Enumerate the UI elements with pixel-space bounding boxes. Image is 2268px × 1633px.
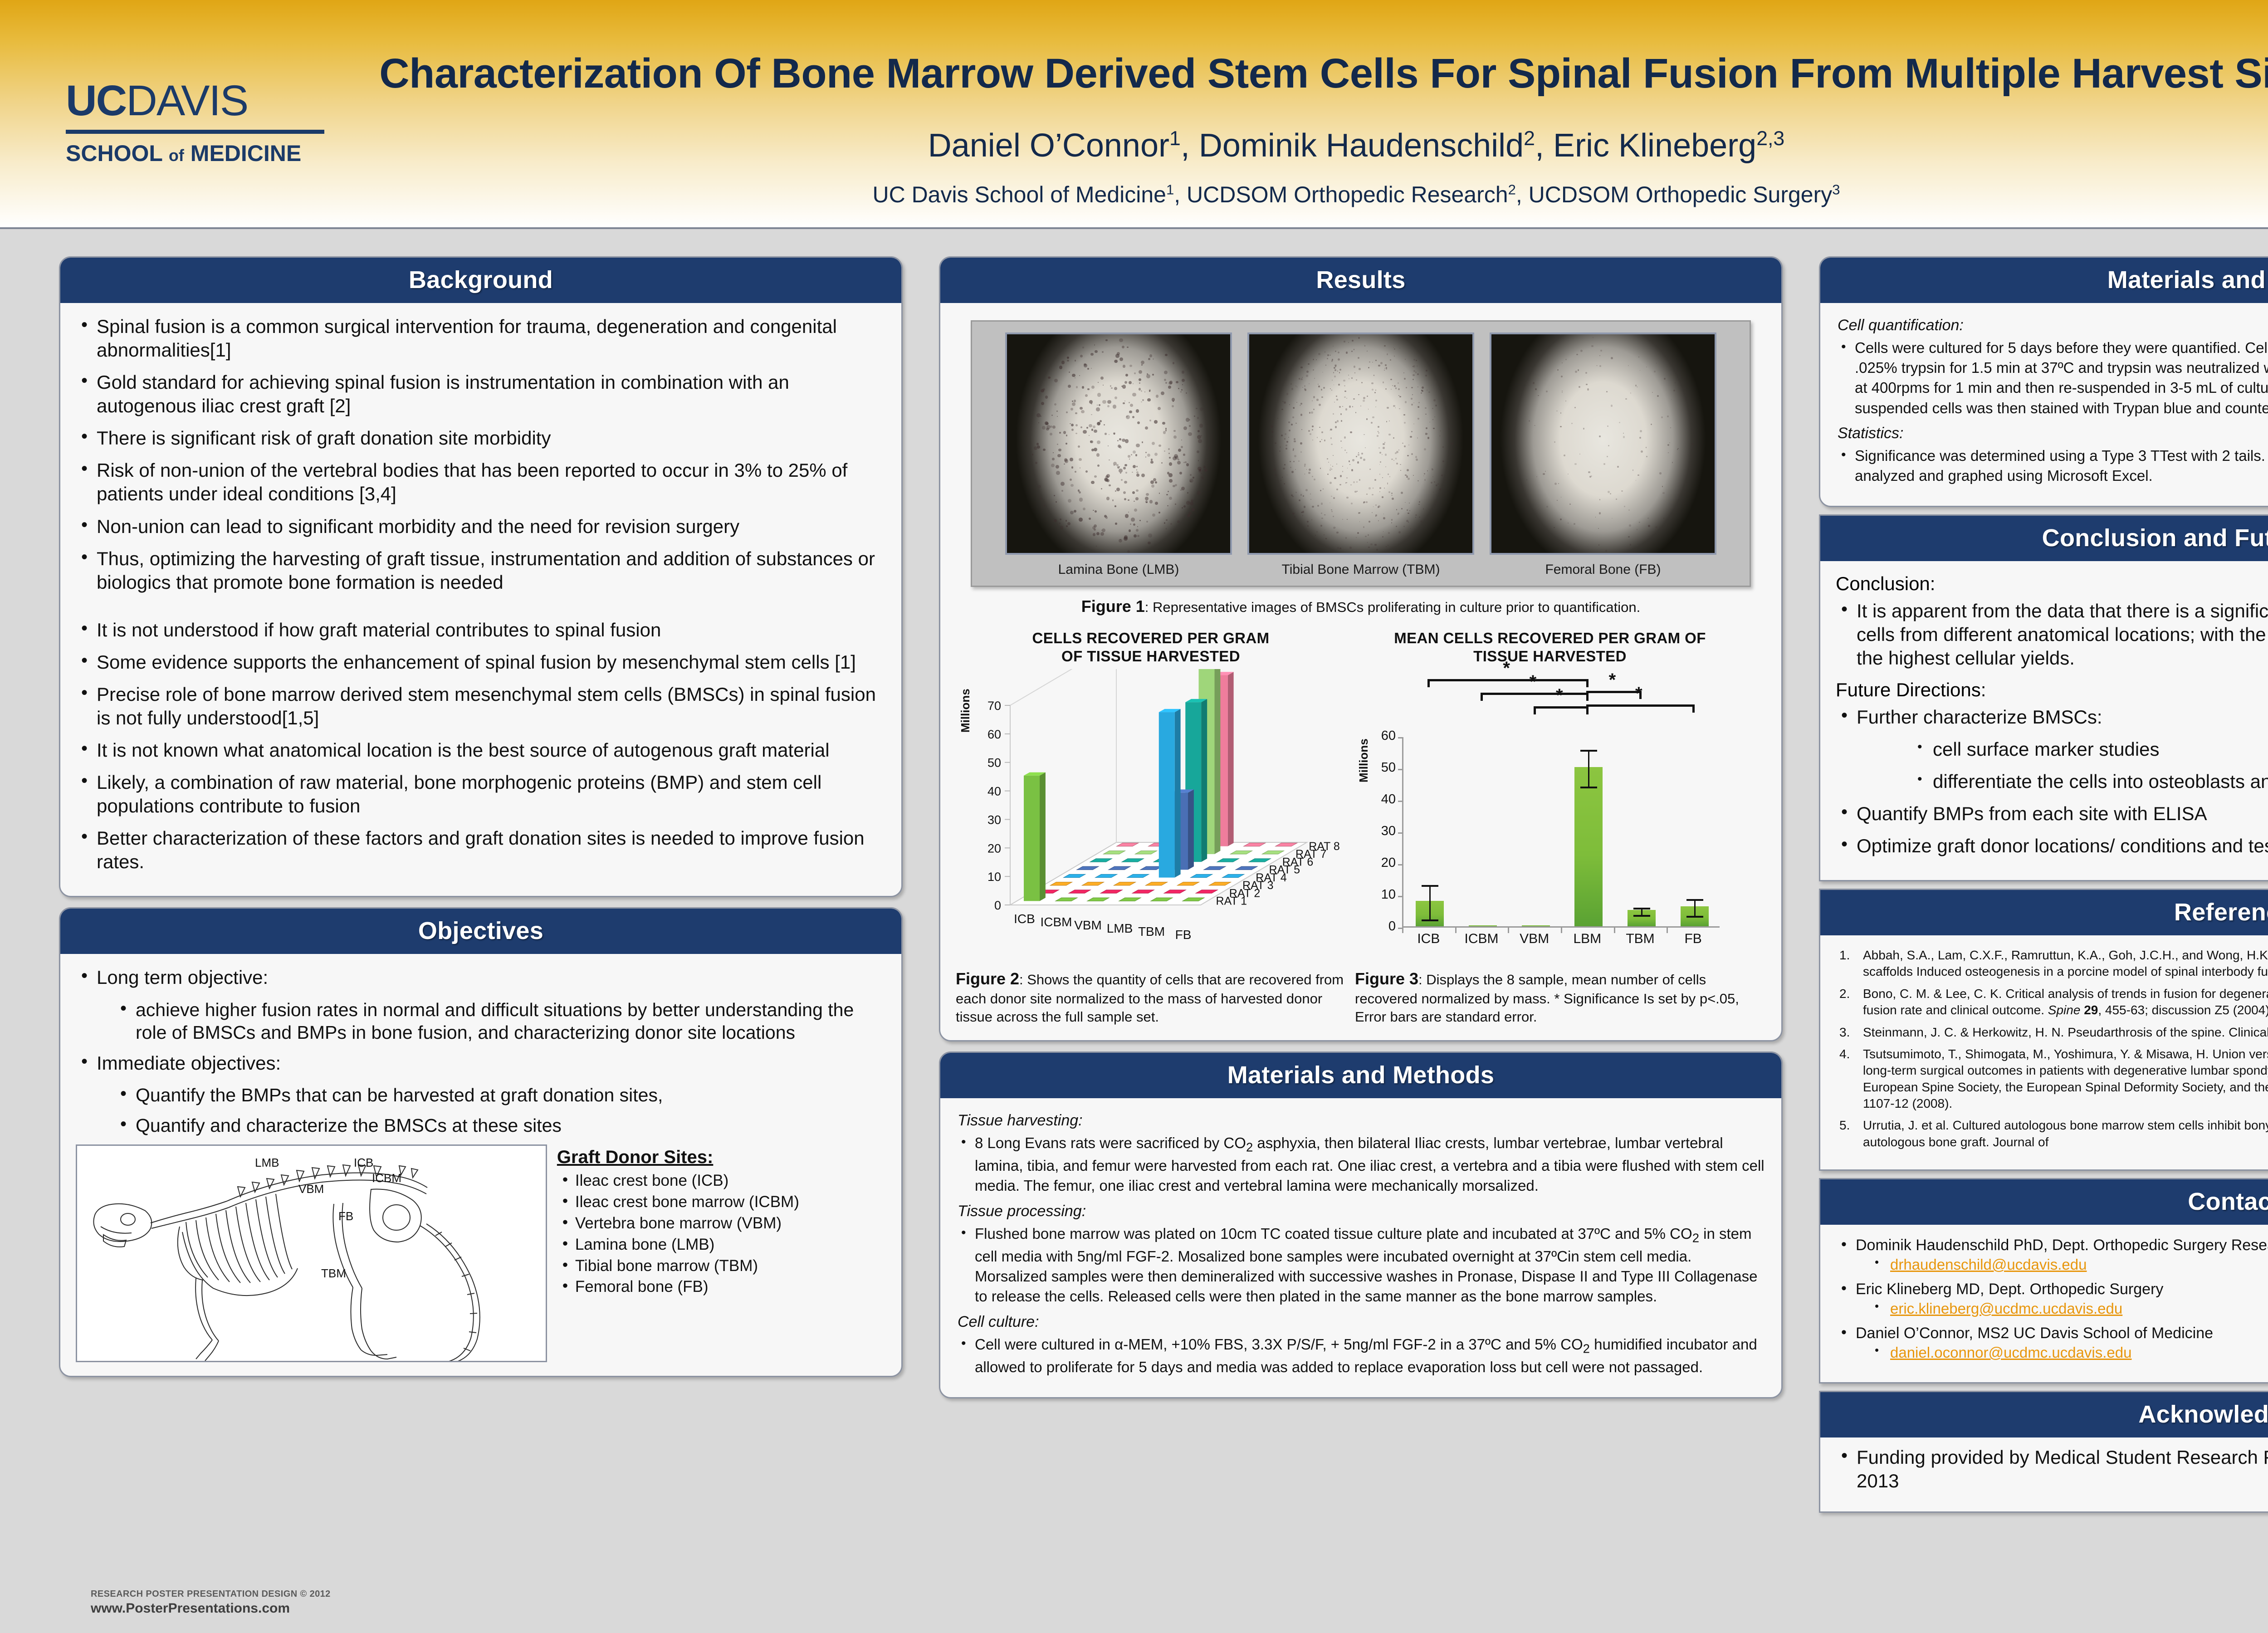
figure3-x-tick: ICB <box>1401 931 1456 947</box>
micrograph-cell-speck <box>1379 487 1381 489</box>
micrograph-cell-speck <box>1183 462 1185 463</box>
micrograph-cell-speck <box>1647 518 1649 519</box>
micrograph-cell-speck <box>1331 360 1333 362</box>
micrograph-cell-speck <box>1284 464 1286 465</box>
micrograph-cell-speck <box>1129 459 1130 460</box>
micrograph-cell-speck <box>1558 483 1559 484</box>
figure3-plot <box>1402 737 1720 928</box>
micrograph-cell-speck <box>1336 489 1338 490</box>
micrograph-cell-speck <box>1286 448 1287 450</box>
micrograph-cell-speck <box>1339 369 1341 371</box>
figure3-title-line2: TISSUE HARVESTED <box>1355 647 1745 665</box>
micrograph-cell-speck <box>1066 435 1068 436</box>
micrograph-cell-speck <box>1415 372 1417 373</box>
micrograph-cell-speck <box>1061 482 1065 486</box>
micrograph-cell-speck <box>1274 469 1276 471</box>
micrograph-cell-speck <box>1578 369 1579 371</box>
list-item: Cell were cultured in α-MEM, +10% FBS, 3… <box>956 1335 1766 1378</box>
objectives-heading: Objectives <box>60 909 901 954</box>
micrograph-cell-speck <box>1375 390 1376 391</box>
micrograph-cell-speck <box>1579 386 1581 388</box>
micrograph-cell-speck <box>1132 393 1136 397</box>
micrograph-cell-speck <box>1569 504 1571 505</box>
micrograph-cell-speck <box>1054 403 1056 406</box>
contact-email-link[interactable]: drhaudenschild@ucdavis.edu <box>1890 1256 2087 1273</box>
micrograph-cell-speck <box>1037 445 1040 449</box>
micrograph-cell-speck <box>1411 404 1413 406</box>
figure3-error-cap-upper <box>1580 750 1597 752</box>
figure3-x-tick: ICBM <box>1454 931 1509 947</box>
micrograph-cell-speck <box>1187 492 1188 494</box>
contact-person: Eric Klineberg MD, Dept. Orthopedic Surg… <box>1836 1281 2268 1298</box>
micrograph-cell-speck <box>1416 459 1418 461</box>
figure2-y-tick: 20 <box>987 842 1001 856</box>
micrograph-cell-speck <box>1128 512 1129 513</box>
micrograph-cell-speck <box>1603 463 1606 465</box>
list-item: Significance was determined using a Type… <box>1836 446 2268 486</box>
micrograph-cell-speck <box>1164 379 1166 381</box>
micrograph-cell-speck <box>1394 385 1396 387</box>
micrograph-cell-speck <box>1585 372 1587 374</box>
micrograph-cell-speck <box>1186 463 1189 466</box>
micrograph-cell-speck <box>1091 368 1092 369</box>
micrograph-cell-speck <box>1281 480 1281 481</box>
acknowledgment-heading: Acknowledgment <box>1820 1392 2268 1437</box>
micrograph-cell-speck <box>1386 546 1387 547</box>
micrograph-cell-speck <box>1405 359 1406 360</box>
micrograph-cell-speck <box>1070 423 1070 424</box>
micrograph-cell-speck <box>1369 469 1371 470</box>
micrograph-cell-speck <box>1139 378 1141 381</box>
micrograph-cell-speck <box>1374 479 1376 481</box>
figure2-x-tick: ICBM <box>1041 915 1072 929</box>
micrograph-cell-speck <box>1334 369 1337 372</box>
micrograph-cell-speck <box>1543 473 1545 475</box>
micrograph-cell-speck <box>1067 357 1069 359</box>
micrograph-cell-speck <box>1323 489 1324 489</box>
micrograph-cell-speck <box>1051 464 1055 467</box>
micrograph-cell-speck <box>1076 386 1078 388</box>
micrograph-cell-speck <box>1588 471 1590 473</box>
micrograph-cell-speck <box>1177 461 1181 464</box>
list-item: Cells were cultured for 5 days before th… <box>1836 338 2268 418</box>
figure3-significance-bracket <box>1535 706 1588 709</box>
micrograph-cell-speck <box>1405 401 1407 403</box>
micrograph-cell-speck <box>1568 523 1569 523</box>
micrograph-cell-speck <box>1131 518 1135 522</box>
micrograph-cell-speck <box>1302 511 1304 513</box>
micrograph-cell-speck <box>1322 372 1323 373</box>
micrograph-cell-speck <box>1122 385 1126 389</box>
micrograph-cell-speck <box>1302 377 1303 378</box>
micrograph-cell-speck <box>1562 391 1563 391</box>
micrograph-cell-speck <box>1353 398 1354 400</box>
micrograph-cell-speck <box>1405 502 1406 503</box>
micrograph-cell-speck <box>1419 517 1420 518</box>
micrograph-cell-speck <box>1344 436 1346 438</box>
micrograph-cell-speck <box>1097 464 1100 467</box>
list-item: Spinal fusion is a common surgical inter… <box>76 315 886 362</box>
list-item: It is not understood if how graft materi… <box>76 618 886 642</box>
micrograph-cell-speck <box>1408 522 1409 523</box>
micrograph-cell-speck <box>1418 402 1420 403</box>
contact-email-link[interactable]: eric.klineberg@ucdmc.ucdavis.edu <box>1890 1300 2122 1317</box>
micrograph-cell-speck <box>1097 440 1100 444</box>
micrograph-cell-speck <box>1321 389 1323 391</box>
micrograph-cell-speck <box>1275 474 1277 476</box>
micrograph-cell-speck <box>1677 448 1679 450</box>
micrograph-cell-speck <box>1164 522 1166 524</box>
micrograph-cell-speck <box>1325 514 1326 515</box>
micrograph-caption-lmb: Lamina Bone (LMB) <box>1005 555 1232 580</box>
figure3-bracket-leg <box>1586 704 1589 713</box>
micrograph-cell-speck <box>1383 447 1385 449</box>
micrograph-cell-speck <box>1349 547 1351 548</box>
micrograph-cell-speck <box>1098 382 1099 383</box>
micrograph-cell-speck <box>1302 387 1303 388</box>
micrograph-cell-speck <box>1363 459 1365 461</box>
results-card: Results Lamina Bone (LMB) Tibial Bone Ma… <box>939 256 1783 1041</box>
micrograph-cell-speck <box>1448 429 1450 430</box>
micrograph-cell-speck <box>1331 390 1332 391</box>
figure3-bracket-leg <box>1427 679 1430 687</box>
micrograph-cell-speck <box>1320 525 1322 527</box>
micrograph-cell-speck <box>1324 440 1325 441</box>
micrograph-cell-speck <box>1071 466 1074 469</box>
micrograph-cell-speck <box>1112 499 1114 501</box>
micrograph-cell-speck <box>1354 349 1355 350</box>
micrograph-cell-speck <box>1085 470 1088 473</box>
micrograph-cell-speck <box>1434 416 1435 417</box>
micrograph-cell-speck <box>1198 430 1200 432</box>
micrograph-cell-speck <box>1117 440 1119 441</box>
micrograph-cell-speck <box>1102 400 1106 404</box>
list-item: Optimize graft donor locations/ conditio… <box>1836 834 2268 858</box>
micrograph-cell-speck <box>1324 534 1325 535</box>
objectives-immediate-label: Immediate objectives: <box>76 1051 886 1075</box>
micrograph-cell-speck <box>1372 512 1373 513</box>
micrograph-cell-speck <box>1173 401 1174 402</box>
micrograph-cell-speck <box>1554 527 1554 528</box>
rat-label-tbm: TBM <box>321 1266 346 1281</box>
micrograph-cell-speck <box>1096 546 1097 547</box>
micrograph-cell-speck <box>1075 433 1077 435</box>
micrograph-cell-speck <box>1127 550 1130 553</box>
micrograph-cell-speck <box>1336 464 1337 464</box>
micrograph-cell-speck <box>1295 423 1297 424</box>
micrograph-cell-speck <box>1367 542 1368 543</box>
micrograph-cell-speck <box>1312 476 1313 477</box>
micrograph-cell-speck <box>1554 483 1557 485</box>
micrograph-cell-speck <box>1411 387 1413 388</box>
micrograph-cell-speck <box>1072 374 1075 377</box>
micrograph-cell-speck <box>1041 402 1044 405</box>
micrograph-cell-speck <box>1339 484 1341 486</box>
micrograph-cell-speck <box>1277 418 1278 419</box>
micrograph-cell-speck <box>1133 383 1134 384</box>
micrograph-cell-speck <box>1282 477 1283 478</box>
micrograph-cell-speck <box>1365 447 1366 448</box>
micrograph-cell-speck <box>1611 357 1613 359</box>
micrograph-cell-speck <box>1451 443 1453 445</box>
objectives-long-term: Long term objective: <box>76 966 886 989</box>
micrograph-cell-speck <box>1421 392 1422 394</box>
micrograph-cell-speck <box>1591 345 1593 347</box>
micrograph-cell-speck <box>1533 382 1535 384</box>
micrograph-cell-speck <box>1321 503 1323 504</box>
figure3-significance-bracket <box>1481 693 1587 695</box>
micrograph-cell-speck <box>1407 469 1409 471</box>
micrograph-cell-speck <box>1129 402 1130 403</box>
micrograph-cell-speck <box>1145 426 1148 430</box>
micrograph-cell-speck <box>1097 405 1098 406</box>
micrograph-cell-speck <box>1424 473 1425 474</box>
micrograph-cell-speck <box>1294 438 1295 440</box>
micrograph-cell-speck <box>1413 365 1415 367</box>
micrograph-cell-speck <box>1087 368 1089 370</box>
rat-label-vbm: VBM <box>298 1182 324 1196</box>
figure3-x-tickmark <box>1455 928 1457 933</box>
micrograph-cell-speck <box>1388 532 1390 534</box>
micrograph-cell-speck <box>1646 456 1647 457</box>
logo-divider <box>66 130 324 134</box>
micrograph-cell-speck <box>1291 424 1293 425</box>
micrograph-cell-speck <box>1610 493 1611 494</box>
micrograph-cell-speck <box>1061 490 1063 492</box>
micrograph-cell-speck <box>1283 468 1285 470</box>
micrograph-cell-speck <box>1664 378 1666 380</box>
micrograph-cell-speck <box>1340 440 1342 442</box>
micrograph-cell-speck <box>1398 531 1401 533</box>
micrograph-cell-speck <box>1035 462 1037 464</box>
micrograph-cell-speck <box>1089 518 1091 520</box>
micrograph-cell-speck <box>1198 439 1202 443</box>
micrograph-cell-speck <box>1351 469 1353 471</box>
micrograph-cell-speck <box>1166 519 1167 521</box>
micrograph-cell-speck <box>1625 398 1627 400</box>
micrograph-cell-speck <box>1354 372 1355 373</box>
micrograph-cell-speck <box>1413 359 1416 361</box>
micrograph-cell-speck <box>1425 407 1426 409</box>
micrograph-cell-speck <box>1629 524 1631 527</box>
methods-section-label: Cell culture: <box>958 1313 1766 1331</box>
micrograph-cell-speck <box>1565 359 1567 360</box>
micrograph-cell-speck <box>1330 430 1330 431</box>
micrograph-cell-speck <box>1321 513 1322 514</box>
micrograph-cell-speck <box>1149 500 1153 503</box>
micrograph-cell-speck <box>1382 477 1383 478</box>
figure2-x-tick: VBM <box>1074 918 1102 932</box>
micrograph-cell-speck <box>1079 458 1082 461</box>
micrograph-cell-speck <box>1130 404 1133 407</box>
micrograph-cell-speck <box>1400 470 1401 471</box>
micrograph-cell-speck <box>1344 391 1346 392</box>
micrograph-cell-speck <box>1074 510 1076 513</box>
micrograph-cell-speck <box>1535 388 1537 391</box>
figure2-y-tick: 0 <box>994 899 1001 912</box>
micrograph-cell-speck <box>1141 474 1145 477</box>
list-item: Vertebra bone marrow (VBM) <box>557 1213 886 1234</box>
micrograph-cell-speck <box>1409 510 1411 512</box>
micrograph-cell-speck <box>1546 506 1548 508</box>
micrograph-cell-speck <box>1050 433 1052 435</box>
micrograph-cell-speck <box>1325 538 1327 540</box>
methods-section-list: Cells were cultured for 5 days before th… <box>1836 338 2268 418</box>
micrograph-cell-speck <box>1181 487 1185 490</box>
micrograph-cell-speck <box>1378 520 1379 521</box>
micrograph-cell-speck <box>1042 388 1045 391</box>
logo-school-text: SCHOOL <box>66 141 162 166</box>
micrograph-cell-speck <box>1413 374 1414 376</box>
micrograph-cell-speck <box>1363 397 1365 399</box>
micrograph-cell-speck <box>1181 389 1183 391</box>
micrograph-cell-speck <box>1374 392 1376 393</box>
micrograph-cell-speck <box>1351 351 1353 352</box>
micrograph-cell-speck <box>1304 388 1305 390</box>
methods-mid-body: Tissue harvesting:8 Long Evans rats were… <box>940 1098 1781 1398</box>
reference-item: Steinmann, J. C. & Herkowitz, H. N. Pseu… <box>1836 1024 2268 1041</box>
figure3-significance-star: * <box>1530 672 1537 692</box>
figure3-x-tickmark <box>1402 928 1403 933</box>
micrograph-cell-speck <box>1123 491 1126 494</box>
micrograph-cell-speck <box>1124 401 1125 401</box>
micrograph-cell-speck <box>1388 474 1389 475</box>
micrograph-cell-speck <box>1379 474 1381 475</box>
micrograph-cell-speck <box>1121 479 1123 481</box>
micrograph-cell-speck <box>1340 475 1342 477</box>
micrograph-cell-speck <box>1128 455 1130 458</box>
micrograph-cell-speck <box>1412 394 1413 395</box>
micrograph-cell-speck <box>1096 453 1100 457</box>
figure2-bar-side <box>1215 669 1221 854</box>
micrograph-cell-speck <box>1669 442 1670 443</box>
micrograph-cell-speck <box>1046 422 1048 425</box>
background-bullet-list-2: It is not understood if how graft materi… <box>76 618 886 874</box>
micrograph-cell-speck <box>1562 392 1563 393</box>
micrograph-cell-speck <box>1560 426 1561 427</box>
micrograph-cell-speck <box>1374 544 1376 546</box>
list-item: Funding provided by Medical Student Rese… <box>1836 1446 2268 1493</box>
micrograph-cell-speck <box>1145 497 1149 500</box>
list-item: Quantify and characterize the BMSCs at t… <box>115 1114 886 1137</box>
micrograph-cell-speck <box>1142 399 1144 401</box>
micrograph-cell-speck <box>1144 391 1145 392</box>
micrograph-cell-speck <box>1411 398 1412 399</box>
micrograph-cell-speck <box>1145 456 1146 457</box>
micrograph-cell-speck <box>1385 466 1386 467</box>
micrograph-cell-speck <box>1301 429 1302 430</box>
micrograph-cell-speck <box>1052 458 1055 460</box>
list-item: Non-union can lead to significant morbid… <box>76 515 886 538</box>
micrograph-cell-speck <box>1291 471 1294 473</box>
contact-email-link[interactable]: daniel.oconnor@ucdmc.ucdavis.edu <box>1890 1344 2131 1361</box>
micrograph-cell-speck <box>1392 498 1394 500</box>
micrograph-cell-speck <box>1427 390 1427 391</box>
micrograph-cell-speck <box>1425 414 1427 415</box>
contact-email-row: drhaudenschild@ucdavis.edu <box>1836 1256 2268 1273</box>
micrograph-cell-speck <box>1663 518 1664 518</box>
micrograph-cell-speck <box>1123 365 1126 368</box>
micrograph-cell-speck <box>1119 469 1123 473</box>
credit-line-1: RESEARCH POSTER PRESENTATION DESIGN © 20… <box>91 1589 331 1600</box>
micrograph-cell-speck <box>1291 388 1294 390</box>
conclusion-label: Conclusion: <box>1836 573 2268 595</box>
figure3-y-tick: 20 <box>1366 856 1396 870</box>
micrograph-cell-speck <box>1096 532 1100 535</box>
micrograph-cell-speck <box>1127 347 1129 348</box>
figure3-error-cap-lower <box>1686 916 1703 918</box>
rat-skeleton-figure: LMB ICB ICBM VBM FB TBM <box>76 1144 547 1362</box>
micrograph-cell-speck <box>1173 362 1175 364</box>
figure3-bar <box>1469 925 1497 926</box>
list-item: It is apparent from the data that there … <box>1836 599 2268 670</box>
methods-section-list: Cell were cultured in α-MEM, +10% FBS, 3… <box>956 1335 1766 1378</box>
micrograph-cell-speck <box>1307 521 1309 523</box>
micrograph-cell-speck <box>1655 526 1657 528</box>
micrograph-cell-speck <box>1416 360 1417 361</box>
micrograph-cell-speck <box>1640 522 1641 523</box>
figure3-error-cap-upper <box>1633 908 1650 909</box>
micrograph-cell-speck <box>1337 420 1339 422</box>
micrograph-cell-speck <box>1175 504 1176 505</box>
micrograph-cell-speck <box>1182 384 1183 385</box>
micrograph-cell-speck <box>1450 458 1451 459</box>
figure3-y-tick: 10 <box>1366 887 1396 902</box>
micrograph-cell-speck <box>1183 454 1185 455</box>
rat-label-fb: FB <box>338 1209 353 1223</box>
micrograph-cell-speck <box>1646 367 1647 367</box>
micrograph-cell-speck <box>1630 544 1631 545</box>
micrograph-cell-speck <box>1307 525 1309 527</box>
micrograph-cell-speck <box>1070 408 1073 411</box>
micrograph-cell-speck <box>1310 494 1311 494</box>
micrograph-cell-speck <box>1335 426 1337 428</box>
micrograph-cell-speck <box>1300 494 1302 496</box>
micrograph-cell-fb: Femoral Bone (FB) <box>1490 332 1716 580</box>
micrograph-cell-speck <box>1183 426 1187 430</box>
micrograph-cell-speck <box>1396 526 1397 527</box>
micrograph-cell-speck <box>1367 351 1368 352</box>
micrograph-cell-speck <box>1102 351 1104 353</box>
micrograph-cell-speck <box>1110 385 1111 386</box>
micrograph-cell-speck <box>1281 435 1283 436</box>
micrograph-cell-speck <box>1300 367 1302 368</box>
methods-section-label: Statistics: <box>1838 425 2268 442</box>
figure2-y-tick: 10 <box>987 870 1001 884</box>
micrograph-cell-speck <box>1330 388 1331 389</box>
micrograph-cell-speck <box>1673 390 1675 391</box>
micrograph-cell-speck <box>1628 365 1629 366</box>
micrograph-cell-speck <box>1338 384 1340 386</box>
micrograph-cell-speck <box>1036 443 1039 445</box>
micrograph-cell-speck <box>1333 372 1334 373</box>
list-item: cell surface marker studies <box>1912 738 2268 761</box>
micrograph-cell-speck <box>1149 420 1151 421</box>
micrograph-cell-speck <box>1391 519 1393 520</box>
micrograph-cell-speck <box>1385 364 1387 366</box>
micrograph-cell-speck <box>1158 445 1161 447</box>
micrograph-cell-speck <box>1182 379 1185 382</box>
figure3-x-tick: TBM <box>1613 931 1667 947</box>
micrograph-cell-speck <box>1109 484 1110 486</box>
micrograph-cell-speck <box>1091 449 1094 451</box>
micrograph-cell-speck <box>1114 360 1118 363</box>
micrograph-cell-speck <box>1358 357 1359 359</box>
micrograph-cell-speck <box>1189 479 1193 483</box>
micrograph-cell-speck <box>1148 533 1152 538</box>
future-directions-bullets-2: Quantify BMPs from each site with ELISAO… <box>1836 802 2268 858</box>
micrograph-cell-speck <box>1315 535 1316 536</box>
